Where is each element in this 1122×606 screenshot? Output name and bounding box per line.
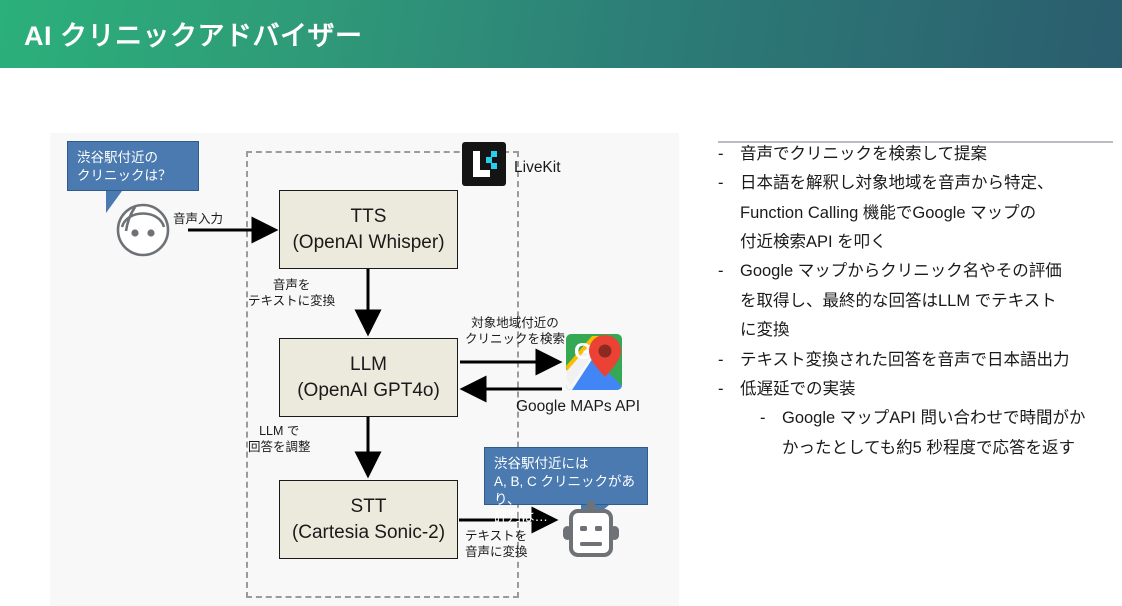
page-title: AI クリニックアドバイザー	[24, 14, 363, 53]
note-bullet-item: -Google マップからクリニック名やその評価	[718, 257, 1108, 286]
user-speech-bubble: 渋谷駅付近の クリニックは？	[67, 141, 199, 191]
note-bullet-item: -Google マップAPI 問い合わせで時間がか	[718, 404, 1108, 433]
label-voice-to-text: 音声を テキストに変換	[248, 277, 335, 310]
process-box-llm: LLM (OpenAI GPT4o)	[279, 338, 458, 417]
bullet-marker: -	[718, 140, 740, 169]
note-bullet-item: -テキスト変換された回答を音声で日本語出力	[718, 346, 1108, 375]
notes-panel: -音声でクリニックを検索して提案-日本語を解釈し対象地域を音声から特定、-Fun…	[718, 140, 1108, 463]
note-bullet-item: -音声でクリニックを検索して提案	[718, 140, 1108, 169]
bullet-text: テキスト変換された回答を音声で日本語出力	[740, 346, 1108, 375]
box-tts-subtitle: (OpenAI Whisper)	[292, 230, 444, 256]
bot-speech-bubble: 渋谷駅付近には A, B, C クリニックがあり、 評判は…	[484, 447, 648, 505]
process-box-stt: STT (Cartesia Sonic-2)	[279, 480, 458, 559]
label-text-to-voice: テキストを 音声に変換	[465, 528, 528, 561]
box-stt-title: STT	[351, 494, 387, 520]
page-header: AI クリニックアドバイザー	[0, 0, 1122, 68]
person-head-icon	[113, 200, 173, 260]
robot-head-icon	[560, 500, 622, 562]
livekit-logo-icon	[462, 142, 506, 186]
bullet-marker: -	[718, 169, 740, 198]
user-speech-text: 渋谷駅付近の クリニックは？	[77, 150, 172, 183]
note-bullet-continuation: -を取得し、最終的な回答はLLM でテキスト	[718, 287, 1108, 316]
box-llm-subtitle: (OpenAI GPT4o)	[297, 378, 440, 404]
note-bullet-continuation: -かったとしても約5 秒程度で応答を返す	[718, 434, 1108, 463]
bullet-text: 付近検索API を叩く	[740, 228, 1108, 257]
box-llm-title: LLM	[350, 352, 387, 378]
google-maps-icon: G	[564, 332, 624, 392]
bullet-text: を取得し、最終的な回答はLLM でテキスト	[740, 287, 1108, 316]
bullet-text: Google マップAPI 問い合わせで時間がか	[782, 404, 1108, 433]
bullet-text: 低遅延での実装	[740, 375, 1108, 404]
box-stt-subtitle: (Cartesia Sonic-2)	[292, 520, 445, 546]
label-search-nearby: 対象地域付近の クリニックを検索	[465, 315, 565, 348]
label-voice-input: 音声入力	[173, 211, 223, 227]
bullet-text: Function Calling 機能でGoogle マップの	[740, 199, 1108, 228]
box-tts-title: TTS	[351, 204, 387, 230]
note-bullet-item: -低遅延での実装	[718, 375, 1108, 404]
bullet-text: かったとしても約5 秒程度で応答を返す	[782, 434, 1108, 463]
architecture-diagram: 渋谷駅付近の クリニックは？ LiveKit TTS (OpenAI Whisp…	[50, 133, 679, 606]
google-maps-label: Google MAPs API	[516, 398, 640, 416]
note-bullet-item: -日本語を解釈し対象地域を音声から特定、	[718, 169, 1108, 198]
livekit-label: LiveKit	[514, 159, 561, 177]
bullet-text: Google マップからクリニック名やその評価	[740, 257, 1108, 286]
bullet-marker: -	[718, 375, 740, 404]
process-box-tts: TTS (OpenAI Whisper)	[279, 190, 458, 269]
note-bullet-continuation: -付近検索API を叩く	[718, 228, 1108, 257]
label-llm-adjust: LLM で 回答を調整	[248, 423, 311, 456]
bullet-marker: -	[760, 404, 782, 433]
bullet-text: 日本語を解釈し対象地域を音声から特定、	[740, 169, 1108, 198]
bullet-marker: -	[718, 257, 740, 286]
bullet-text: 音声でクリニックを検索して提案	[740, 140, 1108, 169]
bullet-text: に変換	[740, 316, 1108, 345]
note-bullet-continuation: -に変換	[718, 316, 1108, 345]
note-bullet-continuation: -Function Calling 機能でGoogle マップの	[718, 199, 1108, 228]
bullet-marker: -	[718, 346, 740, 375]
